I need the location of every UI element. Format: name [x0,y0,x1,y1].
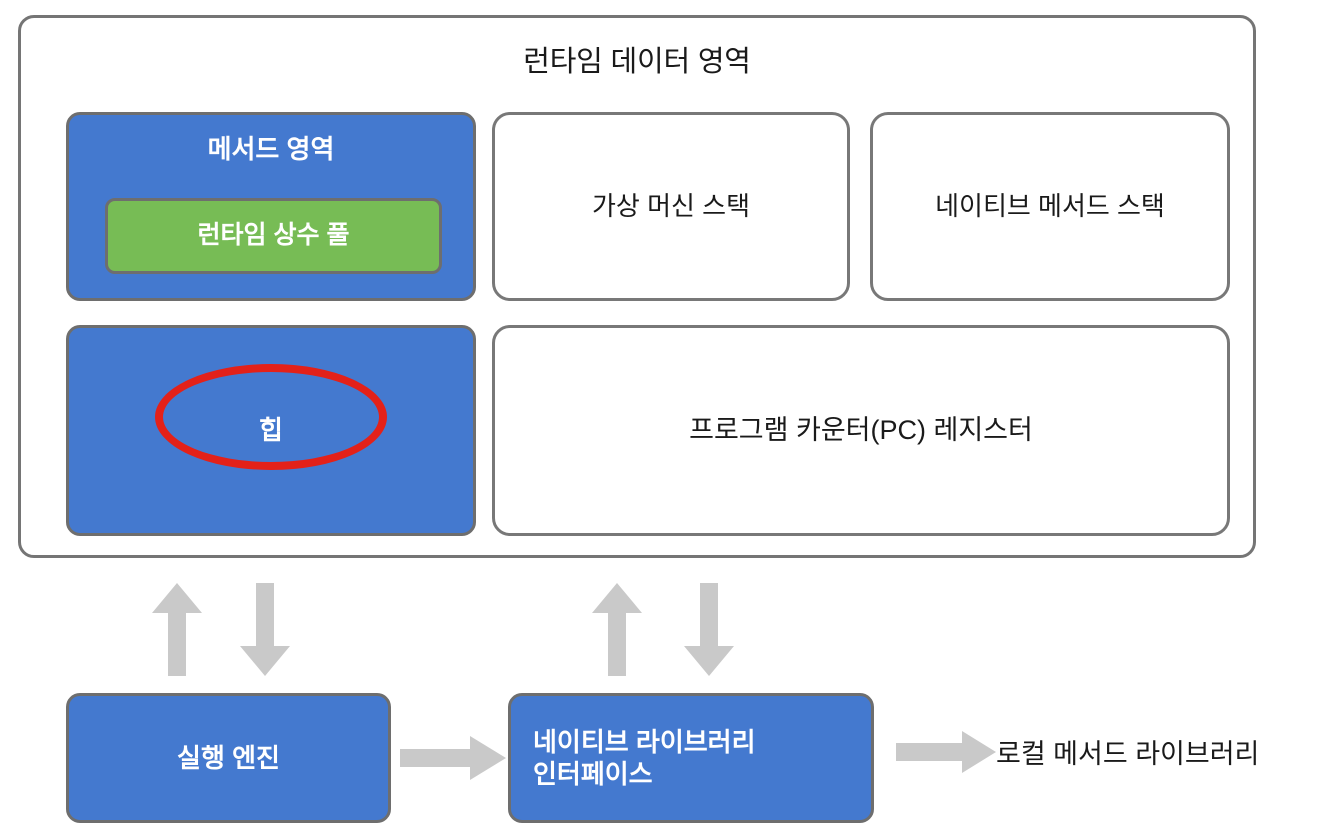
method-area-label: 메서드 영역 [208,133,335,166]
runtime-constant-pool-box: 런타임 상수 풀 [105,198,442,274]
pc-register-label: 프로그램 카운터(PC) 레지스터 [689,414,1033,448]
arrow-right-native-icon [896,731,996,773]
native-library-interface-label-line2: 인터페이스 [533,758,849,791]
heap-box: 힙 [66,325,476,536]
runtime-constant-pool-label: 런타임 상수 풀 [198,220,350,251]
execution-engine-box: 실행 엔진 [66,693,391,823]
local-method-library-text: 로컬 메서드 라이브러리 [996,732,1259,771]
native-library-interface-box: 네이티브 라이브러리 인터페이스 [508,693,874,823]
native-method-stack-label: 네이티브 메서드 스택 [935,190,1165,223]
vm-stack-box: 가상 머신 스택 [492,112,850,301]
native-method-stack-box: 네이티브 메서드 스택 [870,112,1230,301]
heap-label: 힙 [259,414,283,447]
pc-register-box: 프로그램 카운터(PC) 레지스터 [492,325,1230,536]
local-method-library-label: 로컬 메서드 라이브러리 [996,728,1326,774]
arrow-right-engine-icon [400,736,506,780]
runtime-data-area-title: 런타임 데이터 영역 [21,44,1253,80]
native-library-interface-label-line1: 네이티브 라이브러리 [533,726,849,759]
arrow-down-left-icon [240,583,290,676]
arrow-up-middle-icon [592,583,642,676]
vm-stack-label: 가상 머신 스택 [592,190,750,223]
arrow-up-left-icon [152,583,202,676]
execution-engine-label: 실행 엔진 [177,742,280,775]
arrow-down-middle-icon [684,583,734,676]
diagram-canvas: 런타임 데이터 영역 메서드 영역 런타임 상수 풀 가상 머신 스택 네이티브… [0,0,1336,830]
